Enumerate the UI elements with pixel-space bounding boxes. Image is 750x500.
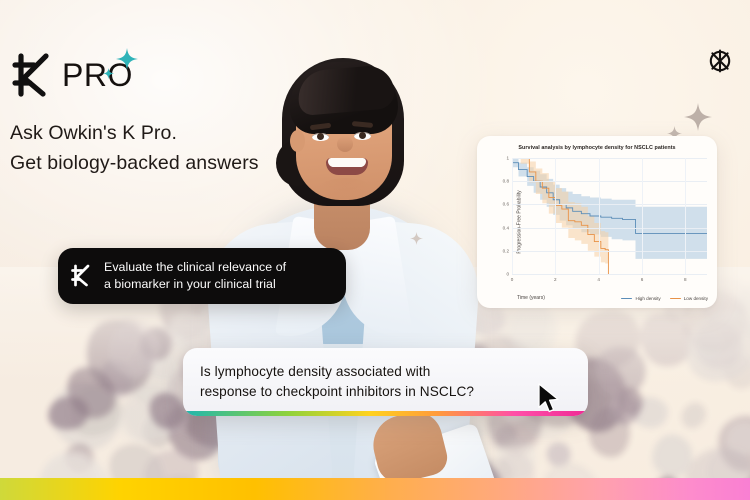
chart-y-tick: 0.4 [503, 225, 509, 230]
chart-x-tick: 6 [641, 277, 644, 282]
chart-vgridline [599, 158, 600, 274]
mouse-pointer-icon [536, 382, 562, 414]
headline-line-2: Get biology-backed answers [10, 148, 340, 178]
sparkle-icon [116, 48, 138, 70]
prompt-chip[interactable]: Evaluate the clinical relevance of a bio… [58, 248, 346, 304]
chart-gridline [512, 158, 707, 159]
chart-legend-swatch [621, 298, 632, 300]
chart-y-tick: 0.2 [503, 248, 509, 253]
headline: Ask Owkin's K Pro. Get biology-backed an… [10, 118, 340, 178]
chart-gridline [512, 274, 707, 275]
question-line-2: response to checkpoint inhibitors in NSC… [200, 382, 572, 402]
chart-y-tick: 0.6 [503, 202, 509, 207]
chart-vgridline [512, 158, 513, 274]
chart-legend-item[interactable]: Low density [670, 296, 708, 301]
chart-x-tick: 2 [554, 277, 557, 282]
chart-x-tick: 0 [511, 277, 514, 282]
chart-gridline [512, 181, 707, 182]
survival-chart-card[interactable]: Survival analysis by lymphocyte density … [477, 136, 717, 308]
chart-series-svg [512, 158, 707, 274]
sparkle-icon-small [103, 68, 114, 79]
chart-x-tick: 8 [684, 277, 687, 282]
sparkle-icon-grey [684, 103, 712, 131]
chart-x-axis-label: Time (years) [517, 295, 545, 301]
k-logo-icon [70, 263, 93, 288]
chart-gridline [512, 228, 707, 229]
headline-line-1: Ask Owkin's K Pro. [10, 118, 340, 148]
chart-vgridline [685, 158, 686, 274]
question-line-1: Is lymphocyte density associated with [200, 362, 572, 382]
chart-legend-swatch [670, 298, 681, 300]
chart-gridline [512, 251, 707, 252]
prompt-chip-line-1: Evaluate the clinical relevance of [104, 259, 286, 276]
owkin-logo-icon [707, 48, 733, 74]
chart-vgridline [642, 158, 643, 274]
chart-y-tick: 1 [506, 156, 509, 161]
k-logo-icon [10, 50, 56, 100]
sparkle-icon-grey-tiny [410, 232, 423, 245]
chart-y-tick: 0 [506, 272, 509, 277]
chart-vgridline [555, 158, 556, 274]
bubble-accent-stripe [183, 411, 588, 416]
chart-legend: High densityLow density [621, 296, 708, 301]
prompt-chip-line-2: a biomarker in your clinical trial [104, 276, 286, 293]
chart-legend-label: Low density [684, 296, 708, 301]
bottom-gradient-bar [0, 478, 750, 500]
promo-banner: PRO Ask Owkin's K Pro. Get biology-backe… [0, 0, 750, 500]
chart-title: Survival analysis by lymphocyte density … [477, 145, 717, 151]
chart-legend-label: High density [635, 296, 660, 301]
brand-logo: PRO [10, 50, 133, 100]
chart-y-tick: 0.8 [503, 179, 509, 184]
question-bubble[interactable]: Is lymphocyte density associated with re… [183, 348, 588, 416]
chart-legend-item[interactable]: High density [621, 296, 660, 301]
chart-gridline [512, 204, 707, 205]
chart-x-tick: 4 [597, 277, 600, 282]
chart-plot-area: 00.20.40.60.8102468 [512, 158, 707, 274]
